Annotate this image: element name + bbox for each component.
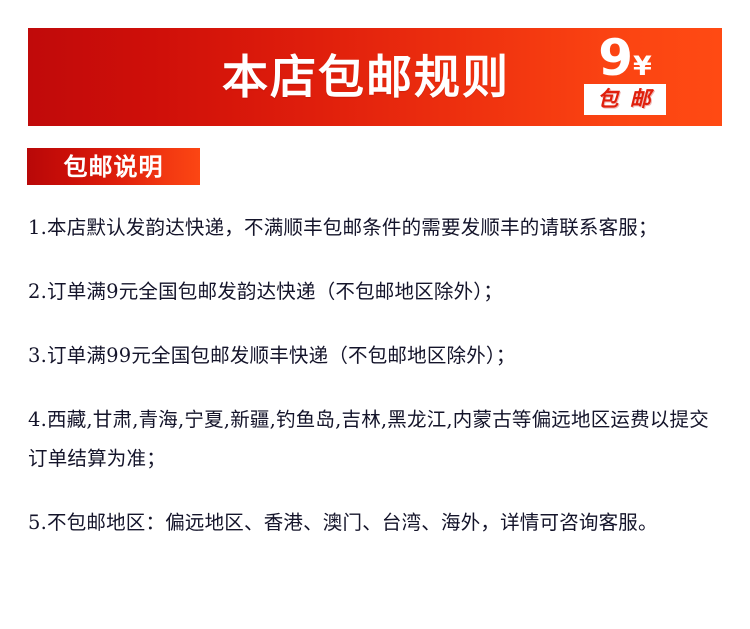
rule-item-5: 5.不包邮地区：偏远地区、香港、澳门、台湾、海外，详情可咨询客服。 — [28, 503, 728, 542]
price-row: 9 ¥ — [565, 30, 685, 82]
rule-item-2: 2.订单满9元全国包邮发韵达快递（不包邮地区除外）； — [28, 272, 728, 311]
yuan-currency-icon: ¥ — [633, 53, 652, 80]
rule-item-1: 1.本店默认发韵达快递，不满顺丰包邮条件的需要发顺丰的请联系客服； — [28, 208, 728, 247]
section-heading: 包邮说明 — [27, 148, 200, 185]
shipping-rules-list: 1.本店默认发韵达快递，不满顺丰包邮条件的需要发顺丰的请联系客服； 2.订单满9… — [28, 208, 728, 542]
section-heading-label: 包邮说明 — [64, 155, 164, 179]
page-banner: 本店包邮规则 9 ¥ 包 邮 — [28, 28, 722, 126]
price-badge: 9 ¥ 包 邮 — [565, 28, 685, 126]
price-amount: 9 — [598, 35, 632, 83]
banner-title: 本店包邮规则 — [222, 54, 510, 100]
free-shipping-badge: 包 邮 — [584, 84, 666, 115]
rule-item-4: 4.西藏,甘肃,青海,宁夏,新疆,钓鱼岛,吉林,黑龙江,内蒙古等偏远地区运费以提… — [28, 400, 728, 478]
free-shipping-badge-label: 包 邮 — [597, 89, 652, 110]
rule-item-3: 3.订单满99元全国包邮发顺丰快递（不包邮地区除外）； — [28, 336, 728, 375]
